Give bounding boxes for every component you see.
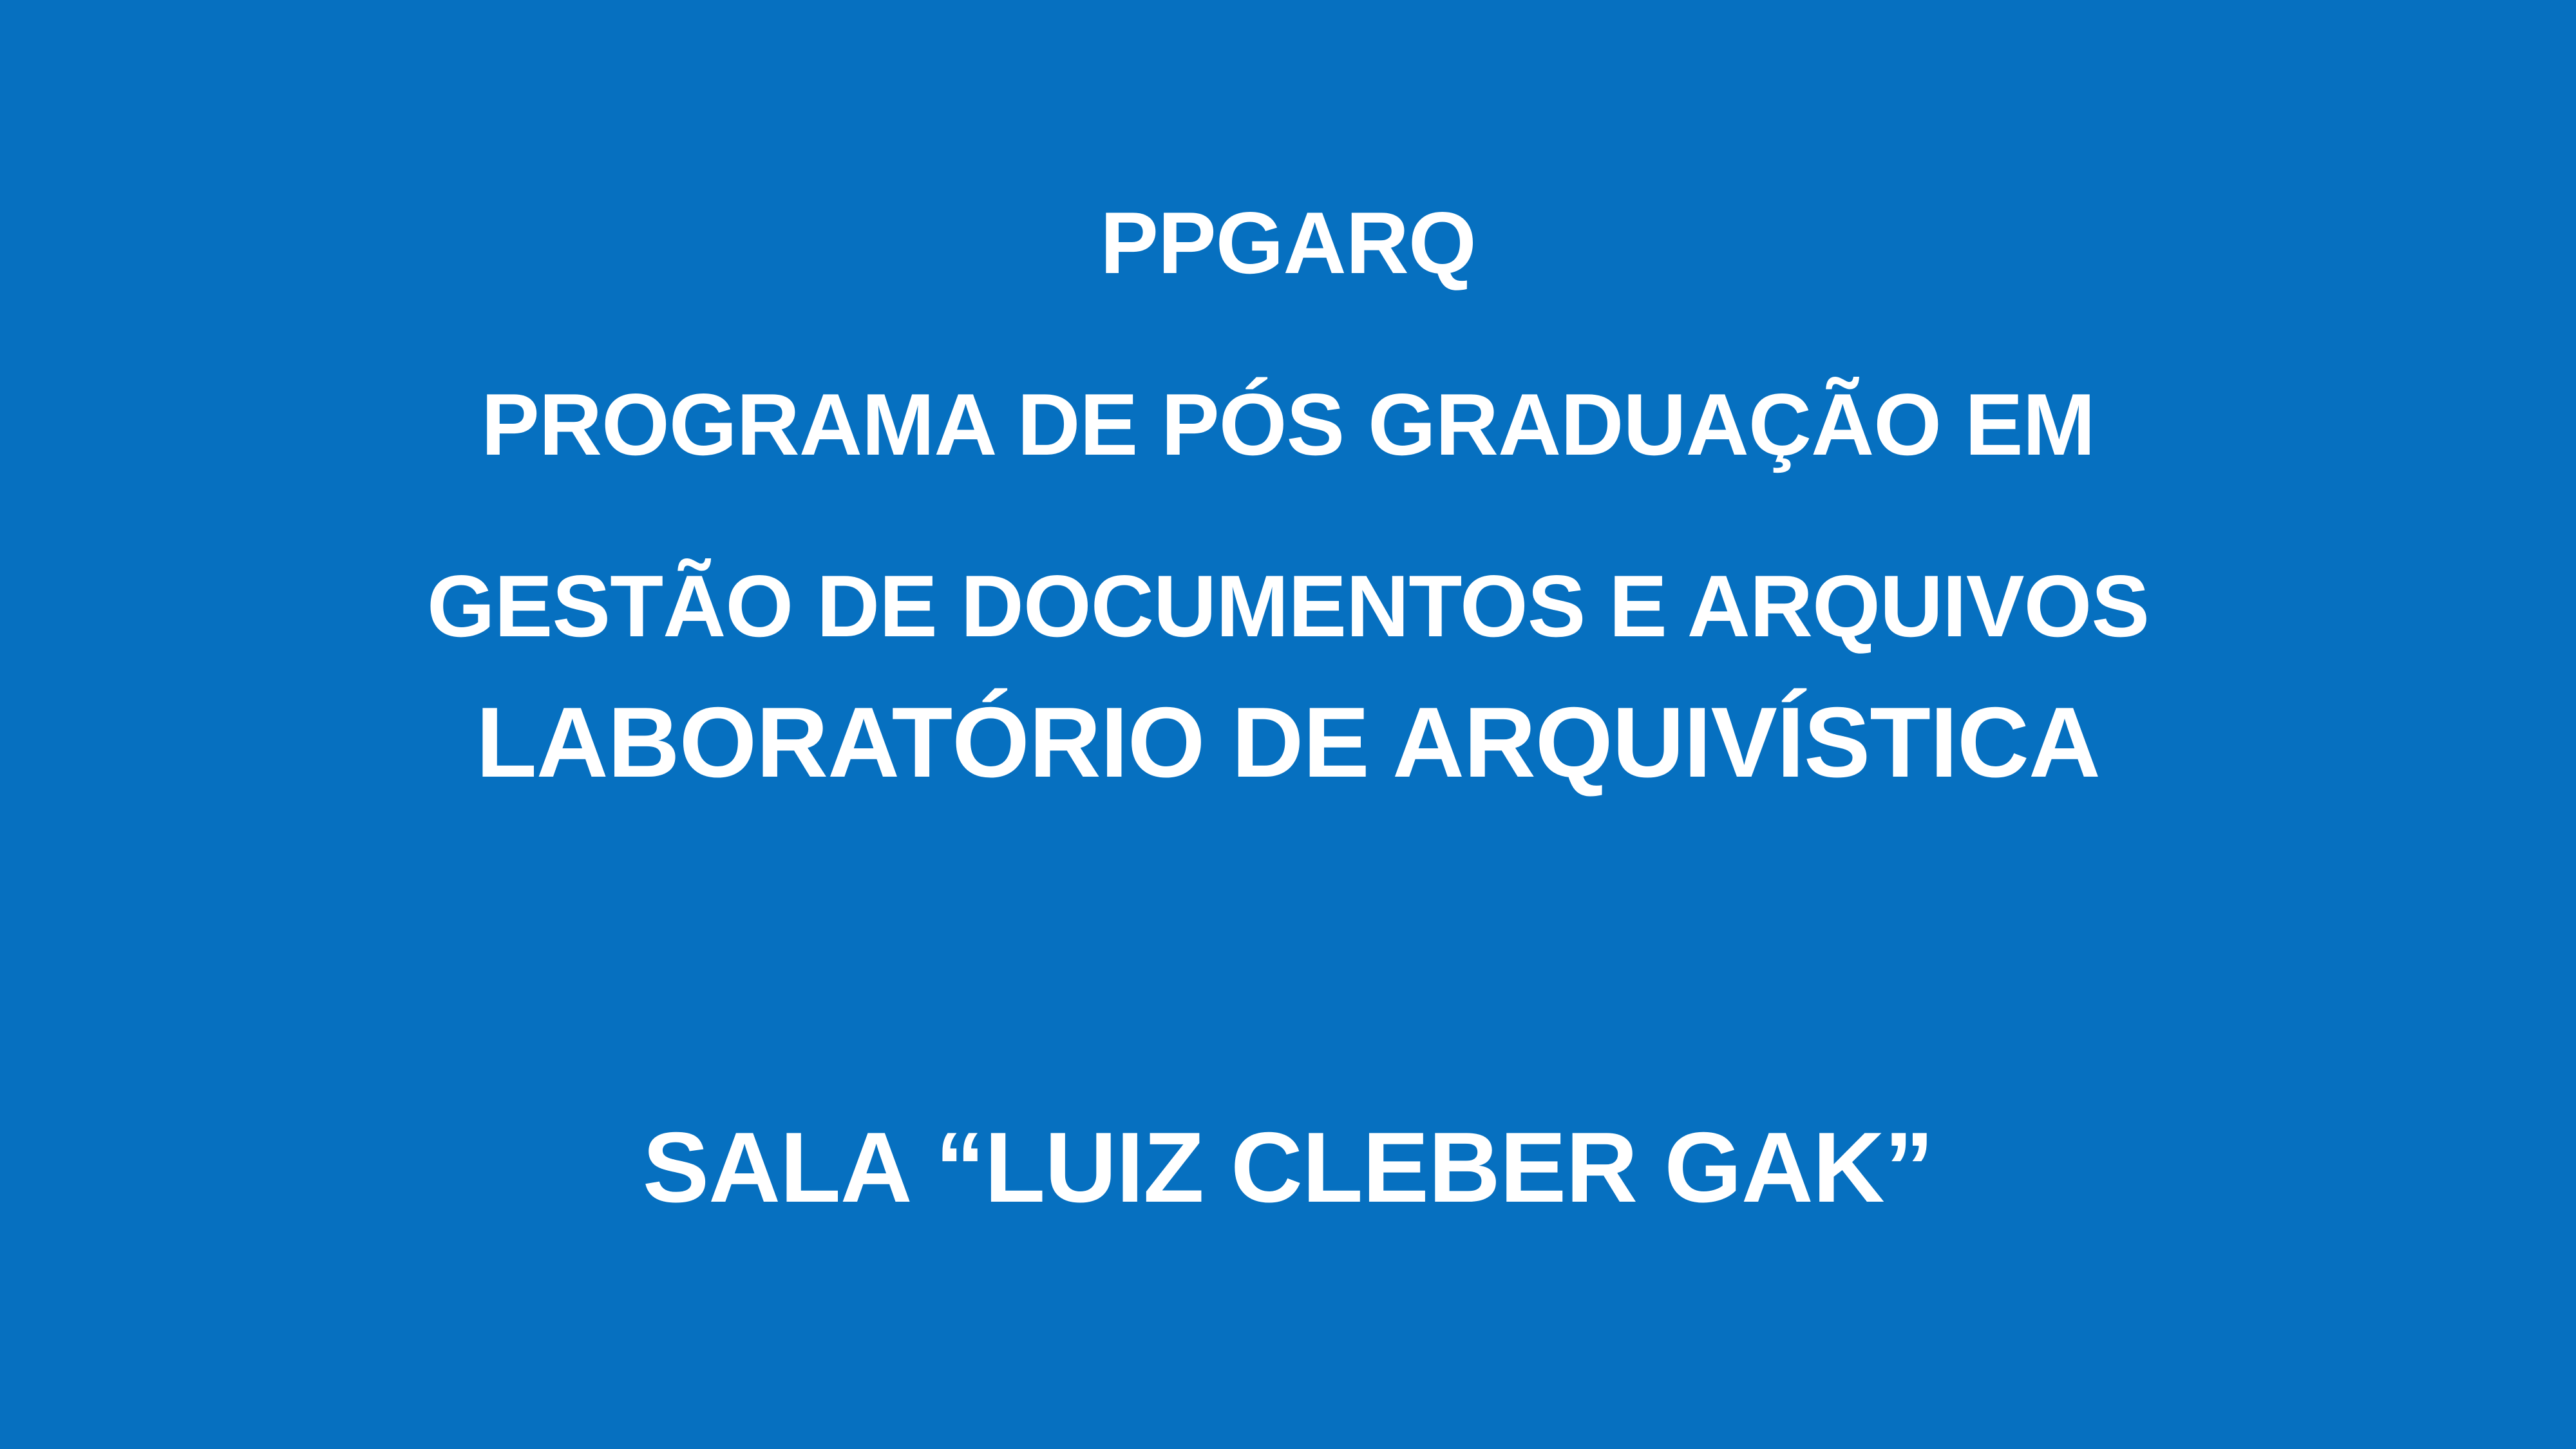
slide-title-block: PPGARQ PROGRAMA DE PÓS GRADUAÇÃO EM GEST… [0,107,2576,743]
presentation-slide: PPGARQ PROGRAMA DE PÓS GRADUAÇÃO EM GEST… [0,0,2576,1449]
title-line-acronym: PPGARQ [0,198,2576,289]
room-name-heading: SALA “LUIZ CLEBER GAK” [0,1116,2576,1219]
laboratory-heading: LABORATÓRIO DE ARQUIVÍSTICA [0,691,2576,794]
title-line-program: PROGRAMA DE PÓS GRADUAÇÃO EM [0,379,2576,470]
title-line-subject: GESTÃO DE DOCUMENTOS E ARQUIVOS [0,561,2576,652]
